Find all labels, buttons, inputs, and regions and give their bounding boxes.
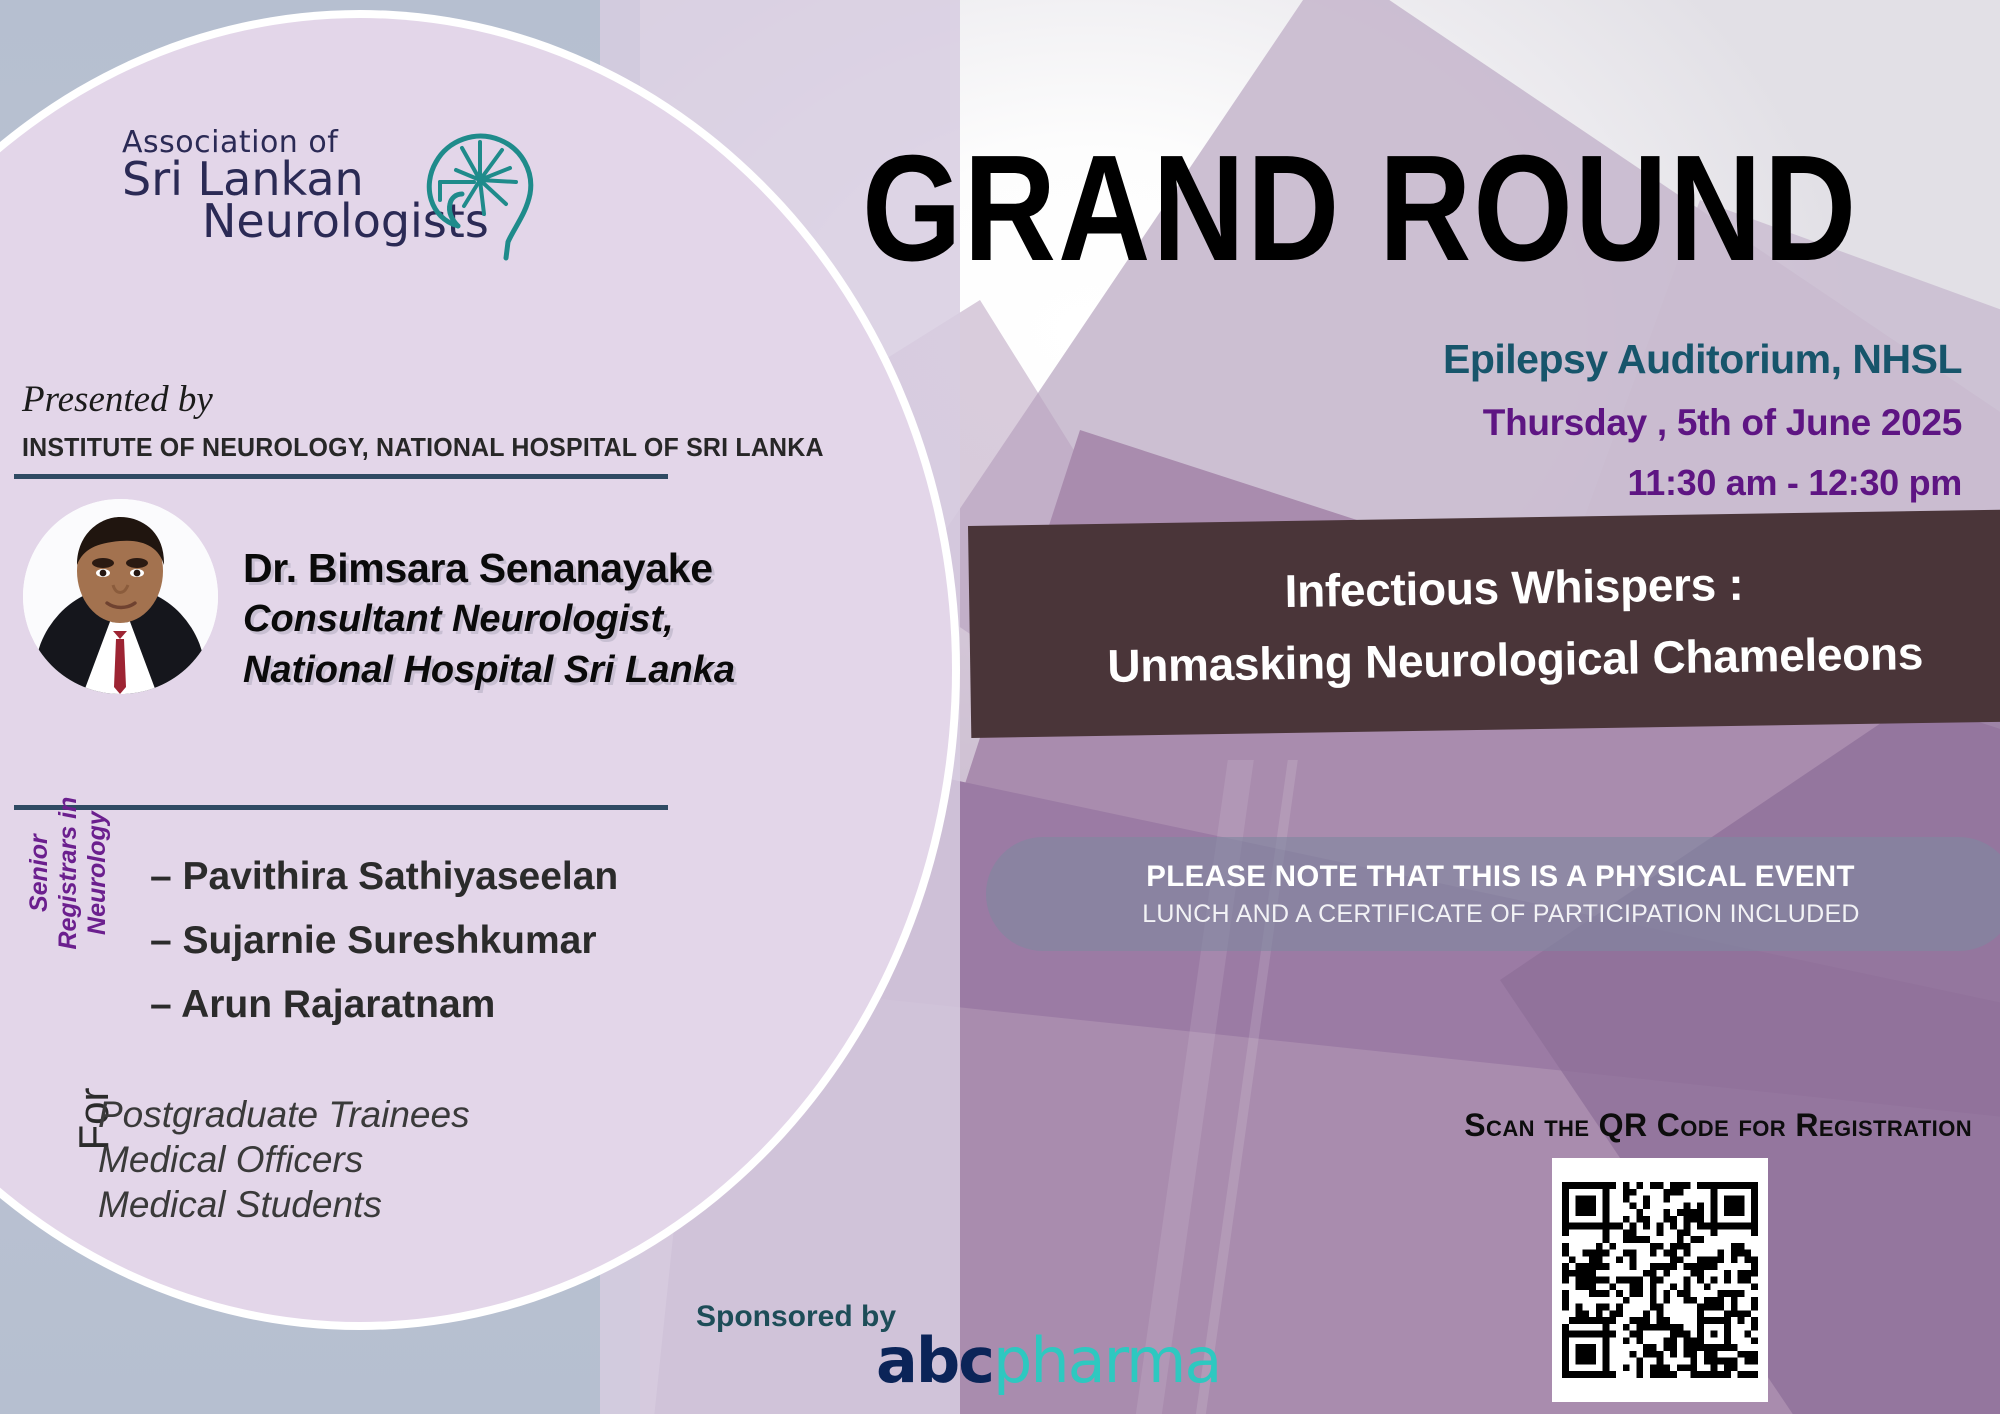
- head-brain-spark-icon: [410, 108, 540, 273]
- senior-registrars-label-line-2: Registrars in: [54, 753, 83, 993]
- speaker-details: Dr. Bimsara Senanayake Consultant Neurol…: [243, 545, 883, 692]
- list-item: Medical Students: [98, 1182, 470, 1227]
- logo-line-3: Neurologists: [202, 198, 422, 244]
- presenter-organisation: INSTITUTE OF NEUROLOGY, NATIONAL HOSPITA…: [22, 432, 824, 463]
- divider-bottom: [14, 805, 668, 810]
- sponsored-by-label: Sponsored by: [696, 1300, 896, 1334]
- speaker-name: Dr. Bimsara Senanayake: [243, 545, 883, 592]
- association-logo: Association of Sri Lankan Neurologists: [122, 128, 522, 278]
- speaker-avatar: [23, 499, 218, 694]
- notice-line-1: PLEASE NOTE THAT THIS IS A PHYSICAL EVEN…: [1147, 860, 1856, 894]
- presented-by-label: Presented by: [22, 378, 213, 421]
- sponsor-section: Sponsored by abcpharma: [696, 1300, 896, 1334]
- senior-registrars-label: Senior Registrars in Neurology: [25, 753, 111, 993]
- event-date: Thursday , 5th of June 2025: [1483, 402, 1962, 444]
- event-flyer: Association of Sri Lankan Neurologists: [0, 0, 2000, 1414]
- notice-line-2: LUNCH AND A CERTIFICATE OF PARTICIPATION…: [1142, 900, 1860, 929]
- physical-event-notice: PLEASE NOTE THAT THIS IS A PHYSICAL EVEN…: [986, 837, 2000, 951]
- list-item: Medical Officers: [98, 1137, 470, 1182]
- list-item: Postgraduate Trainees: [98, 1092, 470, 1137]
- topic-line-1: Infectious Whispers :: [1284, 557, 1744, 618]
- topic-banner: Infectious Whispers : Unmasking Neurolog…: [968, 509, 2000, 738]
- divider-top: [14, 474, 668, 479]
- sponsor-logo: abcpharma: [876, 1324, 1220, 1397]
- sponsor-logo-abc: abc: [876, 1324, 993, 1397]
- senior-registrars-label-line-1: Senior: [25, 753, 54, 993]
- target-audience-list: Postgraduate Trainees Medical Officers M…: [98, 1092, 470, 1227]
- list-item: – Pavithira Sathiyaseelan: [150, 855, 618, 899]
- event-venue: Epilepsy Auditorium, NHSL: [1443, 336, 1962, 383]
- senior-registrars-list: – Pavithira Sathiyaseelan – Sujarnie Sur…: [150, 855, 618, 1047]
- page-title: GRAND ROUND: [862, 122, 1858, 295]
- speaker-role: Consultant Neurologist,: [243, 598, 883, 641]
- list-item: – Sujarnie Sureshkumar: [150, 919, 618, 963]
- senior-registrars-label-line-3: Neurology: [82, 753, 111, 993]
- qr-instruction-label: Scan the QR Code for Registration: [1464, 1107, 1972, 1144]
- event-time: 11:30 am - 12:30 pm: [1628, 462, 1963, 504]
- speaker-organisation: National Hospital Sri Lanka: [243, 649, 883, 692]
- left-panel: Association of Sri Lankan Neurologists: [0, 0, 900, 1414]
- topic-line-2: Unmasking Neurological Chameleons: [1107, 626, 1923, 693]
- qr-code[interactable]: [1552, 1158, 1768, 1402]
- list-item: – Arun Rajaratnam: [150, 983, 618, 1027]
- association-logo-text: Association of Sri Lankan Neurologists: [122, 128, 422, 244]
- sponsor-logo-pharma: pharma: [993, 1324, 1220, 1397]
